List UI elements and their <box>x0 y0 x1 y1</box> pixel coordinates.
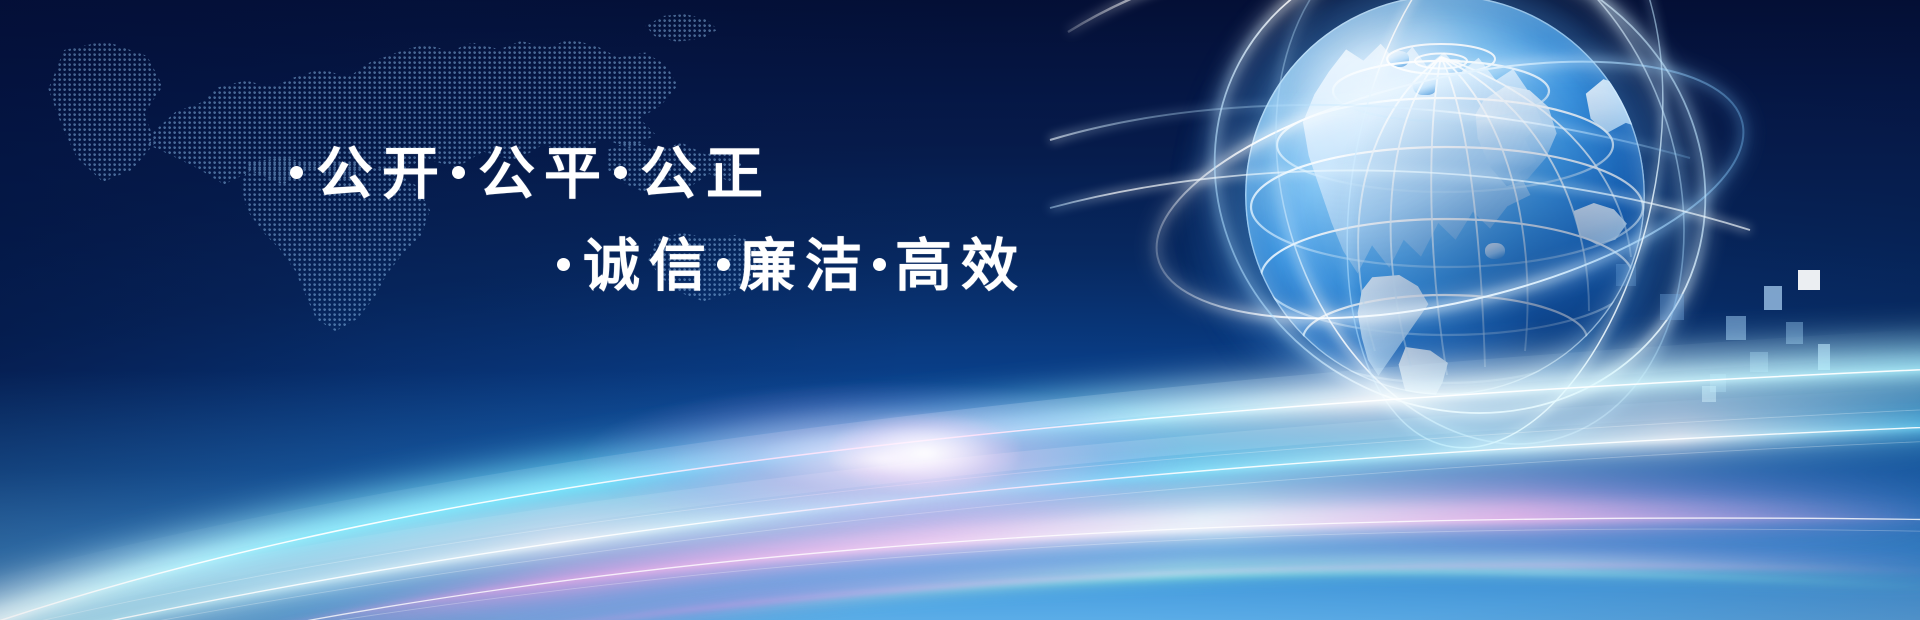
banner-root: 公开公平公正 诚信廉洁高效 <box>0 0 1920 620</box>
background-vignette <box>0 0 1920 620</box>
